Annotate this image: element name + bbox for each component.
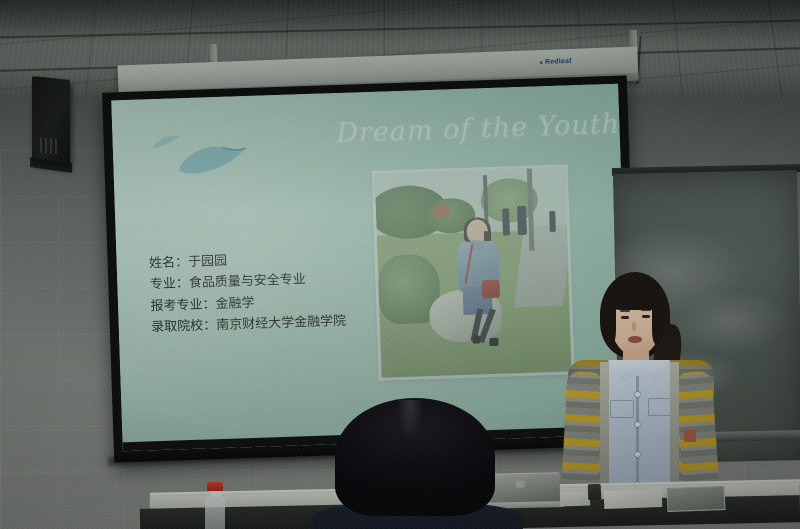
presenter-eye — [642, 315, 650, 318]
presenter-cardigan-patch — [684, 430, 696, 442]
presenter-eyebrow — [620, 310, 630, 312]
slide-row-label: 报考专业： — [150, 297, 215, 314]
presenter-shirt-pocket — [648, 398, 672, 416]
slide-text-block: 姓名：于园园 专业：食品质量与安全专业 报考专业：金融学 录取院校：南京财经大学… — [149, 247, 347, 338]
slide-row-value: 于园园 — [188, 254, 227, 270]
slide-row-label: 姓名： — [149, 255, 188, 271]
presentation-slide: Dream of the Youth — [111, 84, 629, 452]
screen-surface: Dream of the Youth — [111, 84, 629, 452]
presenter-nose — [632, 322, 636, 331]
slide-row-label: 录取院校： — [151, 318, 216, 335]
bottle-cap — [207, 482, 223, 491]
presenter-hair-side — [652, 296, 664, 344]
audience-hair-highlight — [397, 400, 423, 440]
papers[interactable] — [560, 491, 590, 506]
water-bottle[interactable] — [205, 482, 225, 529]
slide-row-value: 食品质量与安全专业 — [189, 273, 306, 292]
slide-photo — [375, 168, 572, 378]
wall-speaker — [32, 76, 70, 168]
brand-dot-icon — [540, 61, 543, 64]
classroom-presentation-photo: Redleaf Dream of the Youth — [0, 0, 800, 529]
presenter-hair-side — [604, 296, 616, 344]
presenter-shirt-button — [635, 422, 640, 427]
tablet-panel[interactable] — [667, 486, 726, 512]
photo-color-wash — [375, 168, 572, 378]
presenter-shirt-button — [635, 452, 640, 457]
presenter-eyebrow — [641, 309, 651, 311]
presenter-shirt-button — [635, 392, 640, 397]
screen-brand-label: Redleaf — [540, 58, 572, 66]
slide-row-label: 专业： — [150, 277, 189, 293]
bottle-body — [205, 497, 225, 529]
seated-audience-member — [335, 398, 495, 529]
brand-text: Redleaf — [545, 58, 572, 66]
presenter-mouth — [628, 336, 642, 343]
papers[interactable] — [604, 489, 663, 509]
presenter-shirt-pocket — [610, 400, 634, 418]
presenter-eye — [621, 316, 629, 319]
laptop-logo — [516, 481, 525, 488]
slide-row-value: 金融学 — [215, 295, 254, 311]
remote-device[interactable] — [588, 484, 602, 500]
slide-row-value: 南京财经大学金融学院 — [216, 313, 346, 332]
